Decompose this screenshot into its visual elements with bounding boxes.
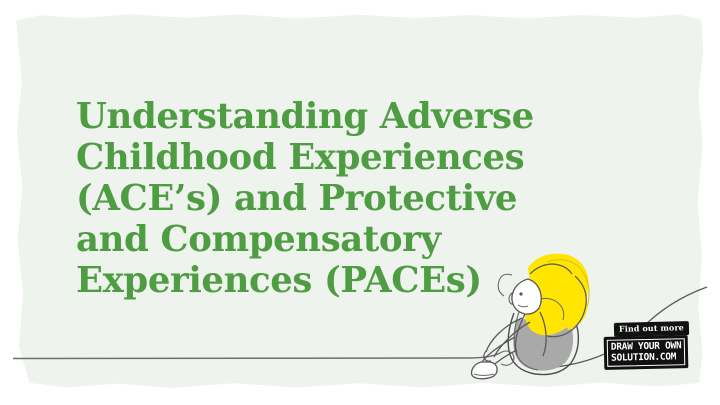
badge-body: DRAW YOUR OWN SOLUTION.COM bbox=[604, 335, 689, 370]
badge-inner-frame: DRAW YOUR OWN SOLUTION.COM bbox=[607, 338, 686, 367]
badge-line-2: SOLUTION.COM bbox=[611, 352, 682, 364]
page-title: Understanding Adverse Childhood Experien… bbox=[76, 96, 636, 301]
find-out-more-badge[interactable]: Find out more DRAW YOUR OWN SOLUTION.COM bbox=[604, 322, 708, 372]
title-slide: Understanding Adverse Childhood Experien… bbox=[0, 0, 720, 405]
